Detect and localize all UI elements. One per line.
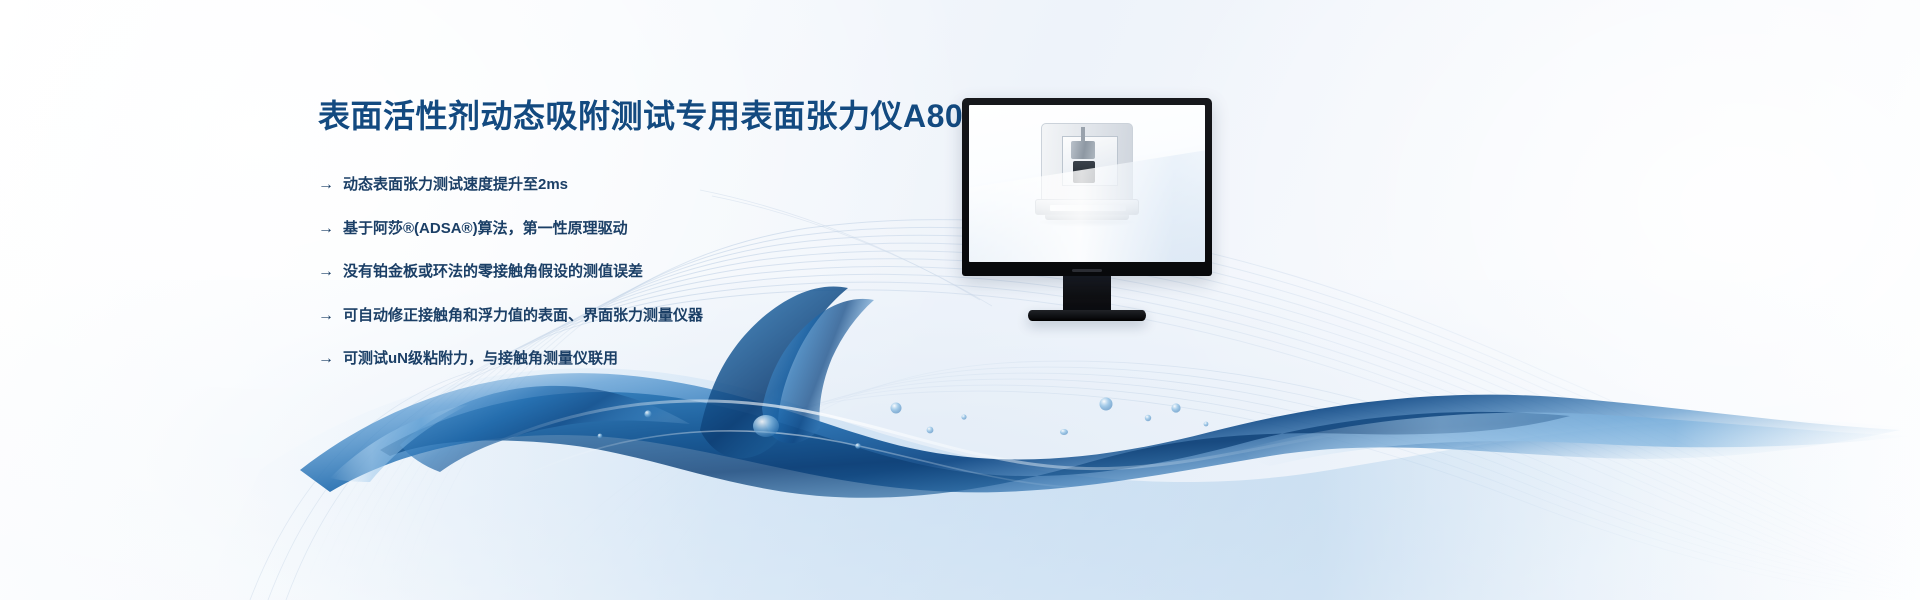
feature-item-3: → 没有铂金板或环法的零接触角假设的测值误差 xyxy=(318,261,978,284)
water-droplets xyxy=(598,398,1209,449)
feature-list: → 动态表面张力测试速度提升至2ms → 基于阿莎®(ADSA®)算法，第一性原… xyxy=(318,174,978,371)
feature-item-2: → 基于阿莎®(ADSA®)算法，第一性原理驱动 xyxy=(318,218,978,241)
hero-banner: 表面活性剂动态吸附测试专用表面张力仪A80系列 → 动态表面张力测试速度提升至2… xyxy=(0,0,1920,600)
arrow-icon: → xyxy=(318,305,334,327)
feature-item-3-label: 没有铂金板或环法的零接触角假设的测值误差 xyxy=(343,261,643,284)
feature-item-5-label: 可测试uN级粘附力，与接触角测量仪联用 xyxy=(343,348,618,371)
product-monitor xyxy=(962,98,1212,321)
feature-item-4: → 可自动修正接触角和浮力值的表面、界面张力测量仪器 xyxy=(318,305,978,328)
monitor-neck xyxy=(1063,276,1111,310)
monitor-stand xyxy=(1028,310,1146,321)
page-title: 表面活性剂动态吸附测试专用表面张力仪A80系列 xyxy=(318,96,978,136)
arrow-icon: → xyxy=(318,261,334,283)
monitor-brand-mark xyxy=(1072,269,1102,272)
monitor-screen xyxy=(969,105,1205,262)
feature-item-1-label: 动态表面张力测试速度提升至2ms xyxy=(343,174,568,197)
arrow-icon: → xyxy=(318,174,334,196)
monitor-bezel xyxy=(962,98,1212,276)
feature-item-1: → 动态表面张力测试速度提升至2ms xyxy=(318,174,978,197)
arrow-icon: → xyxy=(318,218,334,240)
arrow-icon: → xyxy=(318,348,334,370)
feature-item-5: → 可测试uN级粘附力，与接触角测量仪联用 xyxy=(318,348,978,371)
feature-item-4-label: 可自动修正接触角和浮力值的表面、界面张力测量仪器 xyxy=(343,305,703,328)
feature-item-2-label: 基于阿莎®(ADSA®)算法，第一性原理驱动 xyxy=(343,218,628,241)
banner-copy: 表面活性剂动态吸附测试专用表面张力仪A80系列 → 动态表面张力测试速度提升至2… xyxy=(318,96,978,371)
instrument-cylinder xyxy=(1071,141,1095,159)
